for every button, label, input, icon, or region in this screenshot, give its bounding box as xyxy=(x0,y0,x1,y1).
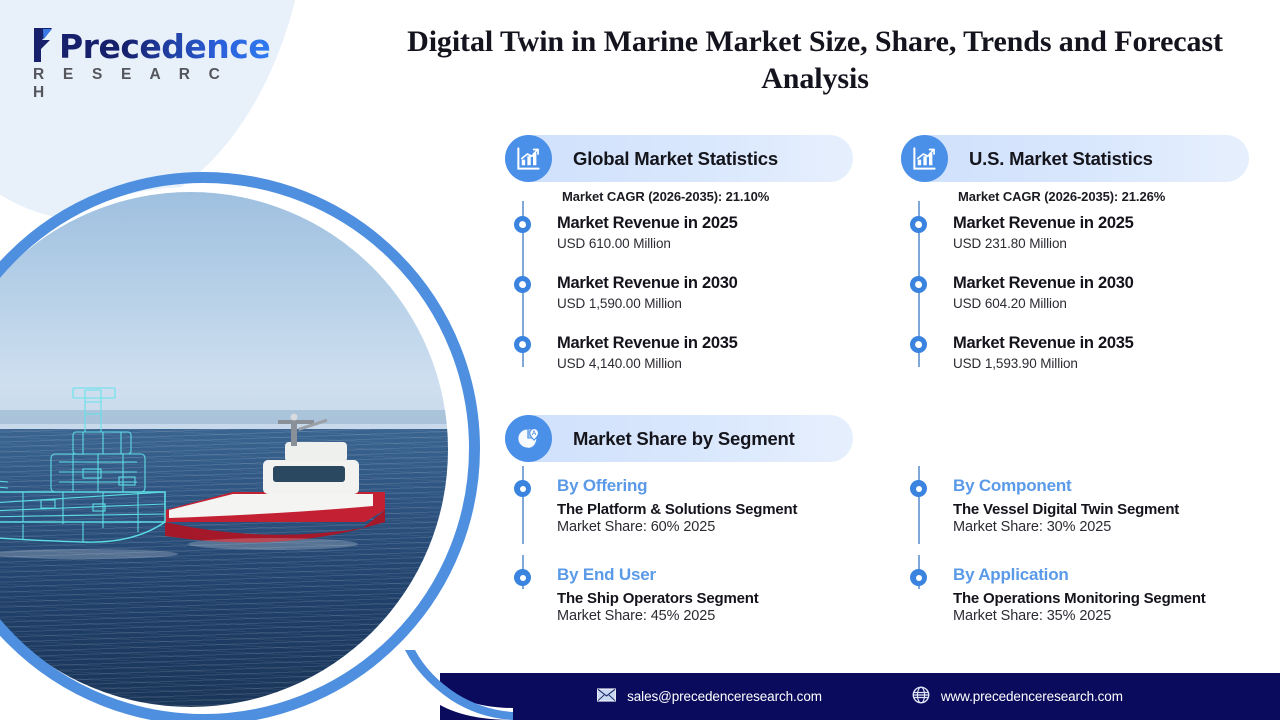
segment-category: By Offering xyxy=(557,476,863,496)
infographic-page: Precedence R E S E A R C H Digital Twin … xyxy=(0,0,1280,720)
globe-icon xyxy=(912,686,930,707)
list-item: By Component The Vessel Digital Twin Seg… xyxy=(901,476,1259,565)
envelope-icon xyxy=(597,688,616,705)
revenue-value: USD 4,140.00 Million xyxy=(557,356,863,371)
list-item: Market Revenue in 2035 USD 4,140.00 Mill… xyxy=(557,333,863,393)
global-market-statistics-panel: Global Market Statistics Market CAGR (20… xyxy=(505,135,863,393)
footer-website[interactable]: www.precedenceresearch.com xyxy=(912,686,1123,707)
segment-share: Market Share: 45% 2025 xyxy=(557,608,863,624)
logo-wordmark-row: Precedence xyxy=(30,24,240,64)
global-stats-title: Global Market Statistics xyxy=(573,148,778,170)
footer-email[interactable]: sales@precedenceresearch.com xyxy=(597,688,822,705)
list-item: By Offering The Platform & Solutions Seg… xyxy=(505,476,863,565)
segment-column-left: By Offering The Platform & Solutions Seg… xyxy=(505,476,863,654)
segment-dot-icon xyxy=(514,480,531,497)
segment-share: Market Share: 30% 2025 xyxy=(953,519,1259,535)
hero-image-circle xyxy=(0,172,480,720)
bar-chart-growth-icon xyxy=(901,135,948,182)
global-stats-header: Global Market Statistics xyxy=(505,135,853,182)
segment-leader: The Vessel Digital Twin Segment xyxy=(953,501,1259,518)
segment-dot-icon xyxy=(514,569,531,586)
segment-category: By Component xyxy=(953,476,1259,496)
list-item: Market Revenue in 2025 USD 610.00 Millio… xyxy=(557,213,863,273)
footer-website-text: www.precedenceresearch.com xyxy=(941,689,1123,704)
timeline-dot-icon xyxy=(514,216,531,233)
bar-chart-growth-icon xyxy=(505,135,552,182)
segment-grid: By Offering The Platform & Solutions Seg… xyxy=(505,476,1260,654)
pie-chart-pin-icon: A xyxy=(505,415,552,462)
segment-leader: The Operations Monitoring Segment xyxy=(953,590,1259,607)
precedence-mark-icon xyxy=(30,26,60,64)
page-title: Digital Twin in Marine Market Size, Shar… xyxy=(400,24,1230,97)
timeline-dot-icon xyxy=(514,276,531,293)
footer-email-text: sales@precedenceresearch.com xyxy=(627,689,822,704)
revenue-value: USD 1,590.00 Million xyxy=(557,296,863,311)
list-item: Market Revenue in 2025 USD 231.80 Millio… xyxy=(953,213,1259,273)
timeline-dot-icon xyxy=(910,216,927,233)
revenue-label: Market Revenue in 2025 xyxy=(557,213,863,234)
svg-text:A: A xyxy=(532,431,537,437)
segment-column-right: By Component The Vessel Digital Twin Seg… xyxy=(901,476,1259,654)
revenue-label: Market Revenue in 2030 xyxy=(953,273,1259,294)
us-cagr-text: Market CAGR (2026-2035): 21.26% xyxy=(958,189,1259,204)
list-item: By Application The Operations Monitoring… xyxy=(901,565,1259,654)
segment-dot-icon xyxy=(910,569,927,586)
list-item: By End User The Ship Operators Segment M… xyxy=(505,565,863,654)
statistics-row: Global Market Statistics Market CAGR (20… xyxy=(505,135,1260,393)
list-item: Market Revenue in 2035 USD 1,593.90 Mill… xyxy=(953,333,1259,393)
list-item: Market Revenue in 2030 USD 604.20 Millio… xyxy=(953,273,1259,333)
us-market-statistics-panel: U.S. Market Statistics Market CAGR (2026… xyxy=(901,135,1259,393)
revenue-label: Market Revenue in 2035 xyxy=(557,333,863,354)
content-column: Global Market Statistics Market CAGR (20… xyxy=(505,135,1260,654)
list-item: Market Revenue in 2030 USD 1,590.00 Mill… xyxy=(557,273,863,333)
revenue-label: Market Revenue in 2030 xyxy=(557,273,863,294)
revenue-label: Market Revenue in 2025 xyxy=(953,213,1259,234)
global-stats-timeline: Market Revenue in 2025 USD 610.00 Millio… xyxy=(505,213,863,393)
segment-title: Market Share by Segment xyxy=(573,428,795,450)
revenue-value: USD 231.80 Million xyxy=(953,236,1259,251)
segment-dot-icon xyxy=(910,480,927,497)
segment-leader: The Platform & Solutions Segment xyxy=(557,501,863,518)
us-stats-timeline: Market Revenue in 2025 USD 231.80 Millio… xyxy=(901,213,1259,393)
logo-word: Precedence xyxy=(59,30,270,64)
revenue-value: USD 604.20 Million xyxy=(953,296,1259,311)
market-share-by-segment-section: A Market Share by Segment By Offering Th… xyxy=(505,415,1260,654)
segment-leader: The Ship Operators Segment xyxy=(557,590,863,607)
segment-header: A Market Share by Segment xyxy=(505,415,853,462)
revenue-value: USD 1,593.90 Million xyxy=(953,356,1259,371)
segment-share: Market Share: 60% 2025 xyxy=(557,519,863,535)
segment-share: Market Share: 35% 2025 xyxy=(953,608,1259,624)
timeline-dot-icon xyxy=(910,276,927,293)
us-stats-header: U.S. Market Statistics xyxy=(901,135,1249,182)
segment-category: By Application xyxy=(953,565,1259,585)
revenue-label: Market Revenue in 2035 xyxy=(953,333,1259,354)
global-cagr-text: Market CAGR (2026-2035): 21.10% xyxy=(562,189,863,204)
segment-category: By End User xyxy=(557,565,863,585)
revenue-value: USD 610.00 Million xyxy=(557,236,863,251)
logo-subtitle: R E S E A R C H xyxy=(33,66,240,102)
footer-bar: sales@precedenceresearch.com www.precede… xyxy=(440,673,1280,720)
timeline-dot-icon xyxy=(910,336,927,353)
timeline-dot-icon xyxy=(514,336,531,353)
brand-logo[interactable]: Precedence R E S E A R C H xyxy=(30,24,240,102)
us-stats-title: U.S. Market Statistics xyxy=(969,148,1153,170)
